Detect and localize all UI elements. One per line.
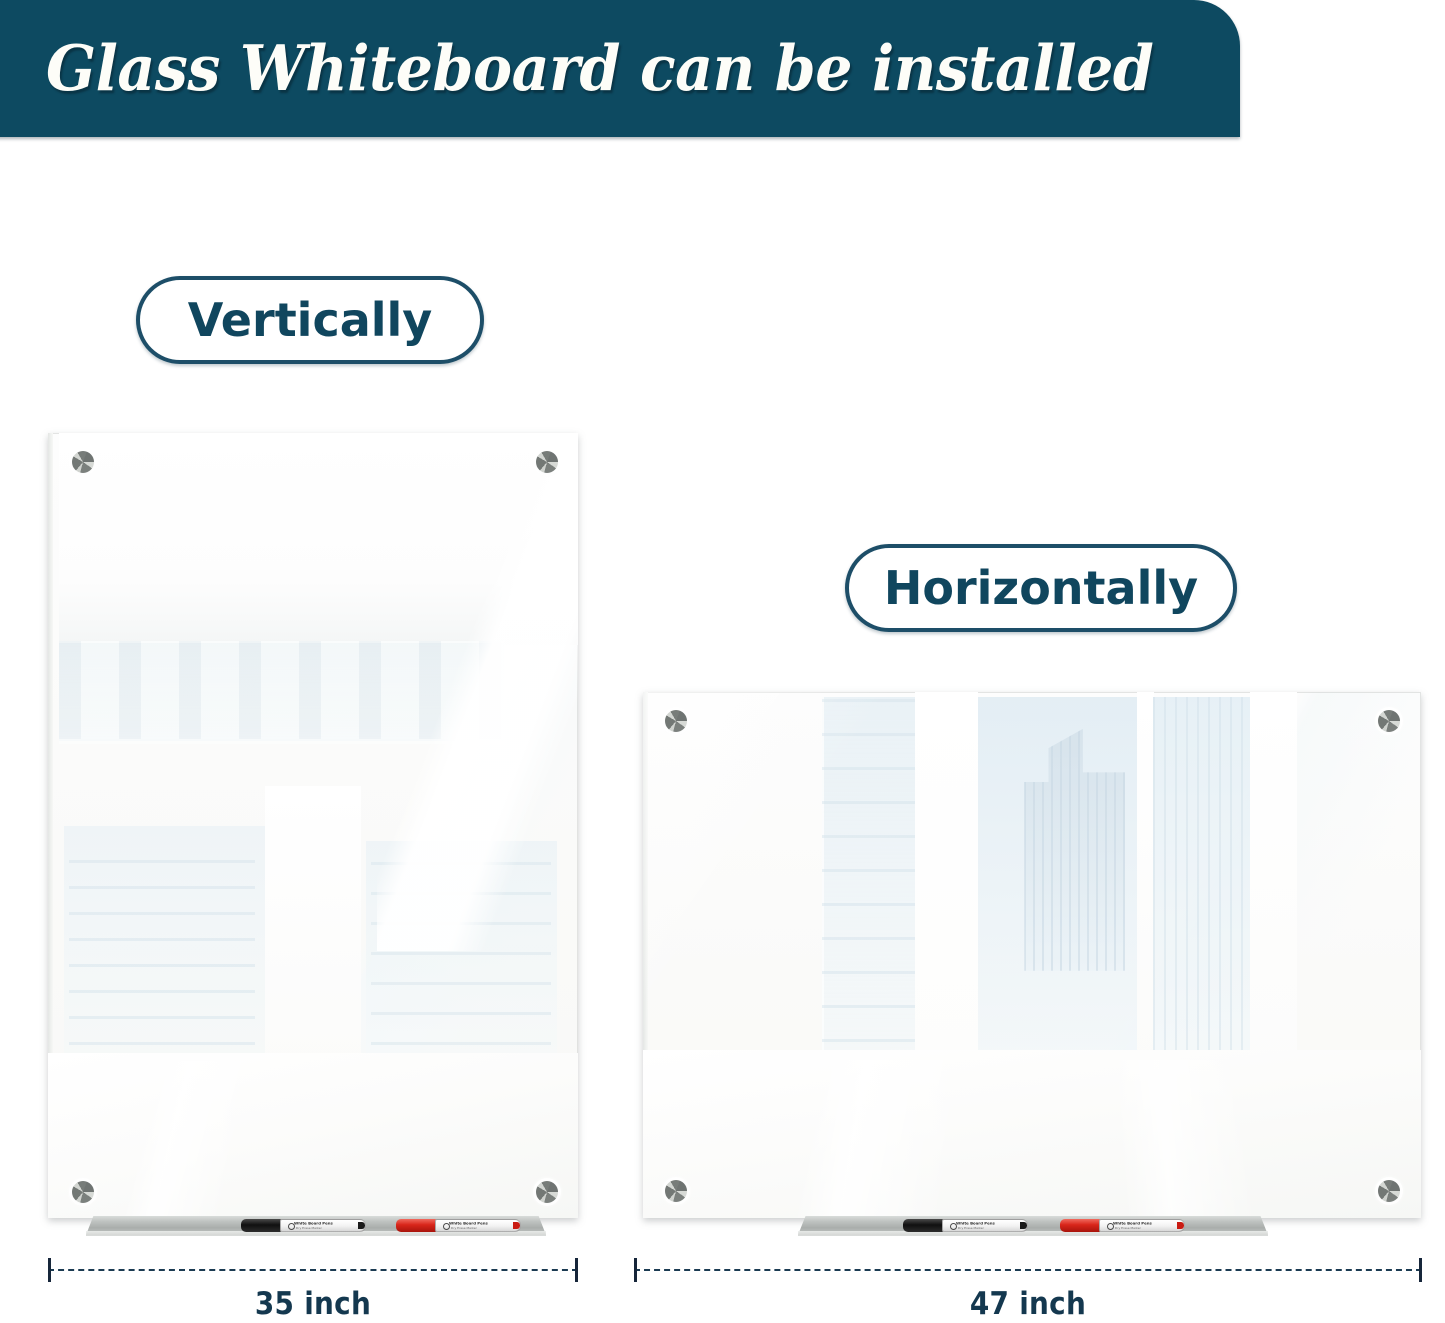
whiteboard-vertical: White Board Pens Dry Erase Marker White … xyxy=(48,433,578,1218)
header-banner: Glass Whiteboard can be installed xyxy=(0,0,1240,137)
marker-cap-black xyxy=(241,1219,282,1232)
reflection-clerestory xyxy=(59,641,504,744)
marker-label: White Board Pens xyxy=(294,1221,333,1226)
marker-tray-vertical: White Board Pens Dry Erase Marker White … xyxy=(86,1216,546,1238)
orientation-label-vertical: Vertically xyxy=(136,276,484,364)
marker-cap-black xyxy=(903,1219,944,1232)
dimension-label-35-inch: 35 inch xyxy=(75,1286,552,1322)
glass-panel-vertical xyxy=(48,433,578,1218)
marker-tip xyxy=(358,1222,365,1228)
dimension-cap-right xyxy=(1419,1258,1422,1282)
marker-tip xyxy=(1177,1222,1184,1228)
reflection-window-center xyxy=(978,697,1141,1076)
dimension-label-47-inch: 47 inch xyxy=(673,1286,1382,1322)
marker-red: White Board Pens Dry Erase Marker xyxy=(396,1219,521,1232)
mounting-screw-icon xyxy=(536,1181,558,1203)
orientation-label-vertical-text: Vertically xyxy=(188,293,433,347)
marker-body: White Board Pens Dry Erase Marker xyxy=(942,1219,1028,1232)
glass-panel-horizontal xyxy=(643,692,1421,1218)
reflection-pillar xyxy=(265,786,360,1076)
reflection-building xyxy=(1024,729,1125,971)
reflection-light-streak xyxy=(377,433,578,951)
marker-body: White Board Pens Dry Erase Marker xyxy=(435,1219,521,1232)
mounting-screw-icon xyxy=(72,451,94,473)
mounting-screw-icon xyxy=(665,710,687,732)
reflection-shelf-lines xyxy=(69,841,255,1045)
marker-label: White Board Pens xyxy=(956,1221,995,1226)
dimension-dashed-line xyxy=(634,1269,1422,1271)
reflection-floor-streak xyxy=(69,1061,398,1218)
marker-sublabel: Dry Erase Marker xyxy=(296,1226,322,1230)
reflection-blinds-left xyxy=(822,697,919,1076)
dimension-cap-right xyxy=(575,1258,578,1282)
mounting-screw-icon xyxy=(665,1180,687,1202)
whiteboard-horizontal: White Board Pens Dry Erase Marker White … xyxy=(643,692,1421,1218)
marker-cap-red xyxy=(396,1219,437,1232)
reflection-blinds-lines xyxy=(371,857,551,1045)
marker-tray-horizontal: White Board Pens Dry Erase Marker White … xyxy=(798,1216,1268,1238)
reflection-window-right xyxy=(1153,697,1254,1076)
orientation-label-horizontal: Horizontally xyxy=(845,544,1237,632)
marker-tip xyxy=(1020,1222,1027,1228)
marker-black: White Board Pens Dry Erase Marker xyxy=(903,1219,1028,1232)
marker-body: White Board Pens Dry Erase Marker xyxy=(1099,1219,1185,1232)
marker-sublabel: Dry Erase Marker xyxy=(1115,1226,1141,1230)
orientation-label-horizontal-text: Horizontally xyxy=(884,561,1198,615)
mounting-screw-icon xyxy=(1378,1180,1400,1202)
dimension-cap-left xyxy=(48,1258,51,1282)
marker-sublabel: Dry Erase Marker xyxy=(451,1226,477,1230)
reflection-window-bars xyxy=(59,641,504,739)
marker-red: White Board Pens Dry Erase Marker xyxy=(1060,1219,1185,1232)
reflection-floor-streak xyxy=(721,1060,1149,1218)
marker-tip xyxy=(513,1222,520,1228)
reflection-ceiling xyxy=(59,433,578,645)
reflection-wall-left xyxy=(64,826,265,1062)
marker-body: White Board Pens Dry Erase Marker xyxy=(280,1219,366,1232)
reflection-floor-streak xyxy=(1016,1060,1389,1218)
dimension-dashed-line xyxy=(48,1269,578,1271)
mounting-screw-icon xyxy=(72,1181,94,1203)
marker-label: White Board Pens xyxy=(449,1221,488,1226)
marker-cap-red xyxy=(1060,1219,1101,1232)
marker-label: White Board Pens xyxy=(1113,1221,1152,1226)
reflection-floor xyxy=(643,1050,1421,1218)
reflection-window-left xyxy=(822,697,923,1076)
reflection-mullion xyxy=(1137,692,1154,1081)
marker-black: White Board Pens Dry Erase Marker xyxy=(241,1219,366,1232)
reflection-wall-right xyxy=(366,841,557,1061)
reflection-glass-sheen xyxy=(643,692,1421,1218)
tray-lip xyxy=(798,1231,1268,1236)
mounting-screw-icon xyxy=(536,451,558,473)
mounting-screw-icon xyxy=(1378,710,1400,732)
dimension-cap-left xyxy=(634,1258,637,1282)
marker-sublabel: Dry Erase Marker xyxy=(958,1226,984,1230)
reflection-floor xyxy=(48,1053,578,1218)
page-title: Glass Whiteboard can be installed xyxy=(46,24,1125,112)
reflection-mullion xyxy=(1250,692,1297,1081)
reflection-mullion xyxy=(915,692,977,1081)
reflection-building-detail xyxy=(1024,729,1125,971)
reflection-blinds-right xyxy=(1153,697,1254,1076)
